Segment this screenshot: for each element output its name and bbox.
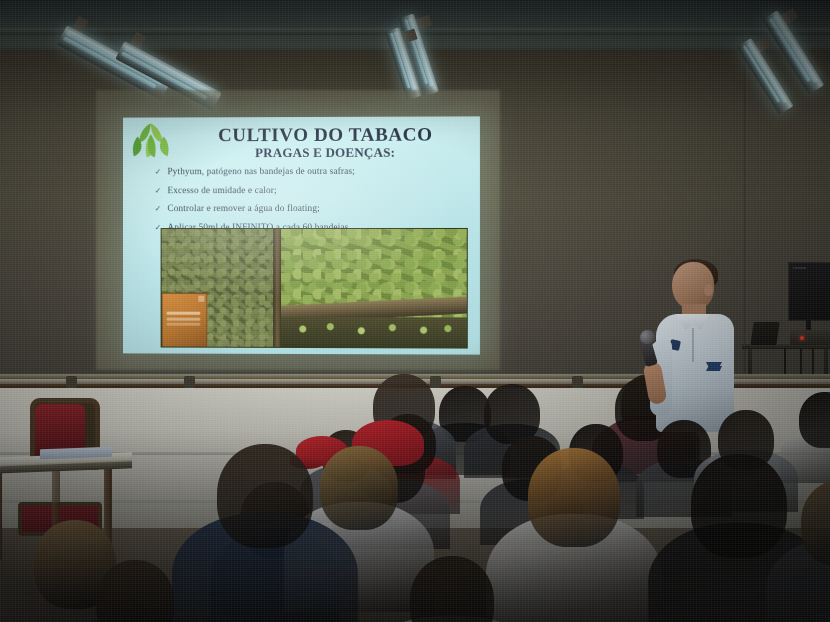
av-receiver-box — [790, 330, 830, 345]
pipe-bracket-4 — [572, 376, 583, 388]
head — [528, 448, 620, 547]
head — [410, 556, 494, 622]
av-status-led — [800, 336, 804, 340]
inset-text-lines — [167, 312, 201, 315]
slide-bullet-text: Excesso de umidade e calor; — [167, 186, 276, 196]
av-laptop — [750, 322, 779, 345]
wall-monitor: Lenovo — [788, 262, 830, 321]
lecture-hall-photo: CULTIVO DO TABACO PRAGAS E DOENÇAS: ✓Pyt… — [0, 0, 830, 622]
slide-bullet-1: ✓Pythyum, patógeno nas bandejas de outra… — [155, 167, 467, 178]
slide-bullet-text: Pythyum, patógeno nas bandejas de outra … — [167, 167, 355, 177]
tobacco-leaf-logo — [128, 120, 174, 160]
student-bottom-mid — [372, 556, 532, 622]
presenter-ear — [704, 284, 713, 296]
inset-badge — [198, 296, 204, 302]
slide-title: CULTIVO DO TABACO — [180, 125, 470, 145]
checkmark-icon: ✓ — [155, 186, 162, 195]
presenter-sleeve-logo — [706, 362, 722, 371]
slide-photo-inset — [162, 293, 208, 349]
slide-bullet-2: ✓Excesso de umidade e calor; — [155, 185, 467, 195]
head — [217, 444, 313, 548]
pipe-bracket-1 — [66, 376, 77, 388]
checkmark-icon: ✓ — [155, 204, 162, 213]
student-bottom-left — [60, 560, 210, 622]
slide-subtitle: PRAGAS E DOENÇAS: — [180, 146, 470, 160]
slide-photo-sprouts — [289, 321, 462, 338]
presenter-placket — [692, 328, 694, 362]
slide-bullet-text: Controlar e remover a água do floating; — [167, 204, 319, 214]
head — [799, 392, 830, 448]
slide-bullet-3: ✓Controlar e remover a água do floating; — [155, 204, 467, 214]
presentation-slide: CULTIVO DO TABACO PRAGAS E DOENÇAS: ✓Pyt… — [123, 116, 480, 354]
student-far-right — [766, 480, 830, 622]
checkmark-icon: ✓ — [155, 167, 162, 176]
monitor-brand-label: Lenovo — [793, 265, 806, 270]
slide-photo — [161, 228, 468, 349]
pipe-bracket-2 — [184, 376, 195, 388]
head — [96, 560, 174, 622]
